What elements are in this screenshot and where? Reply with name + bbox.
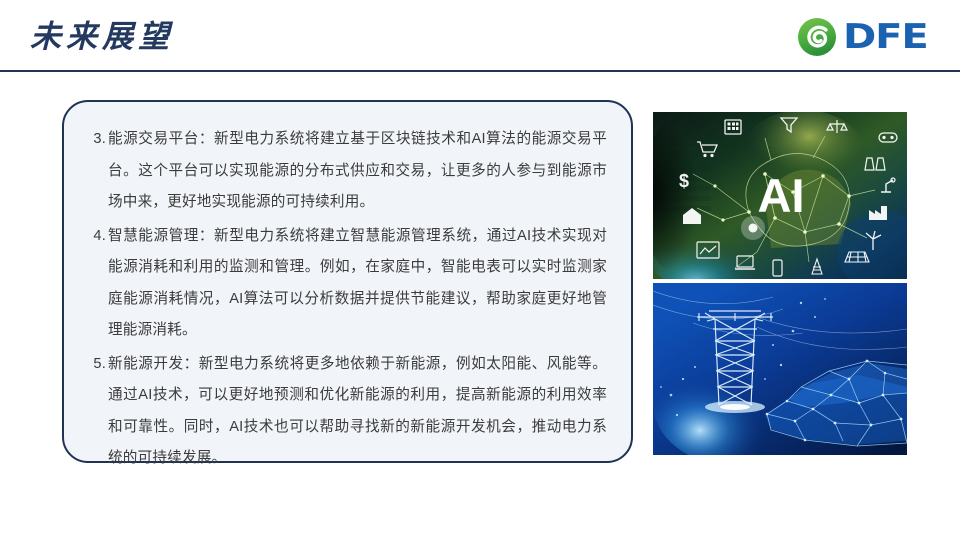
- list-item: 3. 能源交易平台：新型电力系统将建立基于区块链技术和AI算法的能源交易平台。这…: [74, 124, 607, 219]
- e-swirl-mark-icon: [797, 17, 837, 57]
- brand-logo: DFE: [797, 17, 915, 57]
- ai-brain-network-illustration: AI $: [653, 112, 907, 279]
- ai-label: AI: [758, 169, 805, 222]
- page-title: 未来展望: [30, 16, 174, 58]
- logo-wordmark: DFE: [843, 17, 928, 57]
- outlook-list: 3. 能源交易平台：新型电力系统将建立基于区块链技术和AI算法的能源交易平台。这…: [74, 124, 607, 475]
- list-item-text: 能源交易平台：新型电力系统将建立基于区块链技术和AI算法的能源交易平台。这个平台…: [108, 131, 607, 210]
- slide-root: 未来展望 DFE 3. 能源交易平台：新型电力系统将建立基于区块链技术和AI算法…: [0, 0, 960, 540]
- list-item: 4. 智慧能源管理：新型电力系统将建立智慧能源管理系统，通过AI技术实现对能源消…: [74, 221, 607, 347]
- list-item-number: 3.: [82, 124, 106, 156]
- list-item-number: 4.: [82, 221, 106, 253]
- wireframe-hand-power-tower-image: [653, 283, 907, 455]
- title-divider: [0, 70, 960, 72]
- list-item: 5. 新能源开发：新型电力系统将更多地依赖于新能源，例如太阳能、风能等。通过AI…: [74, 349, 607, 475]
- list-item-text: 新能源开发：新型电力系统将更多地依赖于新能源，例如太阳能、风能等。通过AI技术，…: [108, 356, 607, 467]
- list-item-number: 5.: [82, 349, 106, 381]
- wireframe-hand-illustration: [653, 283, 907, 455]
- content-panel: 3. 能源交易平台：新型电力系统将建立基于区块链技术和AI算法的能源交易平台。这…: [62, 100, 633, 463]
- svg-text:$: $: [679, 171, 689, 191]
- list-item-text: 智慧能源管理：新型电力系统将建立智慧能源管理系统，通过AI技术实现对能源消耗和利…: [108, 228, 607, 339]
- ai-brain-network-image: AI $: [653, 112, 907, 279]
